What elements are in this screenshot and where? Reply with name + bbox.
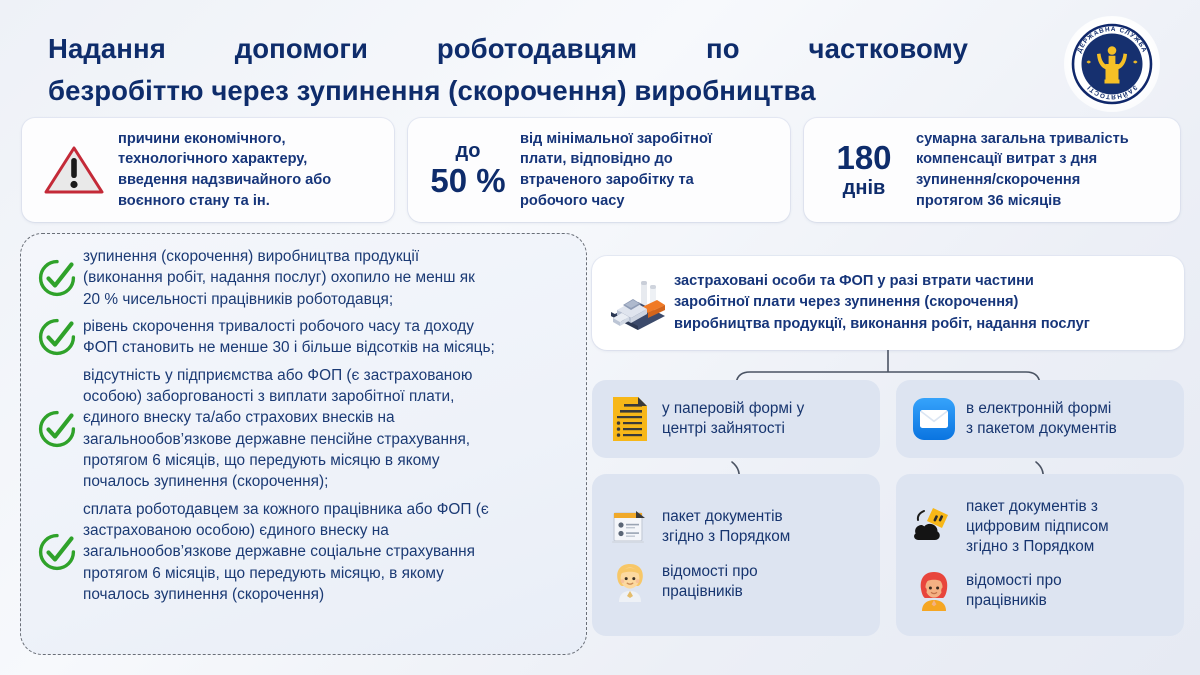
checklist-item-text: відсутність у підприємства або ФОП (є за…: [83, 365, 572, 493]
emblem-icon: ДЕРЖАВНА СЛУЖБА ЗАЙНЯТОСТІ: [1070, 22, 1154, 106]
submission-details-paper: пакет документів згідно з Порядком: [592, 474, 880, 636]
header: Надання допомоги роботодавцям по частков…: [0, 0, 1200, 118]
check-line: застрахованою особою) єдиного внеску на: [83, 520, 568, 541]
stat-prefix: до: [422, 141, 514, 162]
factory-plant-icon: [602, 274, 674, 332]
stat-line: компенсації витрат з дня: [916, 149, 1168, 170]
conditions-checklist-panel: зупинення (скорочення) виробництва проду…: [20, 233, 587, 655]
card-line: працівників: [662, 582, 870, 602]
checklist-item-text: зупинення (скорочення) виробництва проду…: [83, 246, 572, 310]
stat-line: протягом 36 місяців: [916, 191, 1168, 212]
title-line-1: Надання допомоги роботодавцям по частков…: [48, 28, 968, 70]
stat-card-days: 180 днів сумарна загальна тривалість ком…: [804, 118, 1180, 222]
stat-card-days-text: сумарна загальна тривалість компенсації …: [910, 129, 1168, 212]
insured-line: застраховані особи та ФОП у разі втрати …: [674, 271, 1170, 292]
title-word: по: [706, 28, 740, 70]
stat-line: від мінімальної заробітної: [520, 129, 778, 150]
stat-line: втраченого заробітку та: [520, 170, 778, 191]
title-word: допомоги: [235, 28, 368, 70]
stat-card-reasons: причини економічного, технологічного хар…: [22, 118, 394, 222]
detail-row-employees: відомості про працівників: [906, 569, 1174, 613]
card-line: цифровим підписом: [966, 517, 1174, 537]
stat-card-percent: до 50 % від мінімальної заробітної плати…: [408, 118, 790, 222]
checklist-item: рівень скорочення тривалості робочого ча…: [31, 316, 572, 359]
title-line-2: безробіттю через зупинення (скорочення) …: [48, 70, 968, 112]
green-check-circle-icon: [31, 318, 83, 356]
stat-value: 180: [818, 141, 910, 176]
check-line: відсутність у підприємства або ФОП (є за…: [83, 365, 568, 386]
check-line: ФОП становить не менше 30 і більше відсо…: [83, 337, 568, 358]
card-line: відомості про: [662, 562, 870, 582]
card-line: пакет документів: [662, 507, 870, 527]
stat-unit: днів: [818, 178, 910, 199]
stat-value: 50 %: [422, 164, 514, 199]
submission-card-electronic-text: в електронній формі з пакетом документів: [962, 399, 1174, 439]
checklist-item: відсутність у підприємства або ФОП (є за…: [31, 365, 572, 493]
detail-row-employees: відомості про працівників: [602, 560, 870, 604]
check-line: почалось зупинення (скорочення);: [83, 471, 568, 492]
green-check-circle-icon: [31, 533, 83, 571]
detail-row-documents: пакет документів згідно з Порядком: [602, 506, 870, 548]
stat-figure-percent: до 50 %: [422, 141, 514, 199]
document-list-icon: [602, 506, 658, 548]
submission-methods-grid: у паперовій формі у центрі зайнятості: [592, 380, 1184, 636]
warning-triangle-icon: [36, 144, 112, 196]
check-line: єдиного внеску та/або страхових внесків …: [83, 407, 568, 428]
check-line: (виконання робіт, надання послуг) охопил…: [83, 267, 568, 288]
card-line: працівників: [966, 591, 1174, 611]
green-check-circle-icon: [31, 259, 83, 297]
mail-envelope-icon: [906, 396, 962, 442]
detail-employees-text: відомості про працівників: [658, 562, 870, 602]
check-line: загальнообов’язкове державне соціальне с…: [83, 541, 568, 562]
card-line: центрі зайнятості: [662, 419, 870, 439]
stat-line: причини економічного,: [118, 129, 382, 150]
submission-card-paper[interactable]: у паперовій формі у центрі зайнятості: [592, 380, 880, 458]
stat-line: воєнного стану та ін.: [118, 191, 382, 212]
stat-line: сумарна загальна тривалість: [916, 129, 1168, 150]
redhead-person-icon: [906, 569, 962, 613]
check-line: сплата роботодавцем за кожного працівник…: [83, 499, 568, 520]
stat-figure-days: 180 днів: [818, 141, 910, 200]
check-line: особою) заборгованості з виплати заробіт…: [83, 386, 568, 407]
detail-signed-documents-text: пакет документів з цифровим підписом згі…: [962, 497, 1174, 558]
detail-employees-text: відомості про працівників: [962, 571, 1174, 611]
title-word: частковому: [809, 28, 968, 70]
stat-line: робочого часу: [520, 191, 778, 212]
blond-person-icon: [602, 560, 658, 604]
check-line: зупинення (скорочення) виробництва проду…: [83, 246, 568, 267]
card-line: з пакетом документів: [966, 419, 1174, 439]
title-word: Надання: [48, 28, 166, 70]
page-title: Надання допомоги роботодавцям по частков…: [48, 28, 968, 112]
check-line: протягом 6 місяців, що передують місяцю …: [83, 450, 568, 471]
checklist-item-text: сплата роботодавцем за кожного працівник…: [83, 499, 572, 606]
check-line: загальнообов’язкове державне пенсійне ст…: [83, 429, 568, 450]
check-line: 20 % чисельності працівників роботодавця…: [83, 289, 568, 310]
check-line: протягом 6 місяців, що передують місяцю,…: [83, 563, 568, 584]
state-employment-service-emblem: ДЕРЖАВНА СЛУЖБА ЗАЙНЯТОСТІ: [1064, 16, 1160, 112]
insured-persons-card: застраховані особи та ФОП у разі втрати …: [592, 256, 1184, 350]
insured-line: виробництва продукції, виконання робіт, …: [674, 314, 1170, 335]
detail-documents-text: пакет документів згідно з Порядком: [658, 507, 870, 547]
submission-card-electronic[interactable]: в електронній формі з пакетом документів: [896, 380, 1184, 458]
stat-line: зупинення/скорочення: [916, 170, 1168, 191]
checklist-item: сплата роботодавцем за кожного працівник…: [31, 499, 572, 606]
submission-card-paper-text: у паперовій формі у центрі зайнятості: [658, 399, 870, 439]
stat-line: введення надзвичайного або: [118, 170, 382, 191]
card-line: в електронній формі: [966, 399, 1174, 419]
digital-signature-key-icon: [906, 505, 962, 549]
insured-persons-section: застраховані особи та ФОП у разі втрати …: [592, 256, 1184, 350]
green-check-circle-icon: [31, 410, 83, 448]
card-line: у паперовій формі у: [662, 399, 870, 419]
insured-line: заробітної плати через зупинення (скороч…: [674, 292, 1170, 313]
insured-persons-text: застраховані особи та ФОП у разі втрати …: [674, 271, 1170, 335]
stat-line: плати, відповідно до: [520, 149, 778, 170]
detail-row-signed-documents: пакет документів з цифровим підписом згі…: [906, 497, 1174, 558]
check-line: почалось зупинення (скорочення): [83, 584, 568, 605]
card-line: згідно з Порядком: [966, 537, 1174, 557]
top-stat-cards: причини економічного, технологічного хар…: [22, 118, 1180, 222]
stat-line: технологічного характеру,: [118, 149, 382, 170]
card-line: пакет документів з: [966, 497, 1174, 517]
infographic-page: Надання допомоги роботодавцям по частков…: [0, 0, 1200, 675]
checklist-item-text: рівень скорочення тривалості робочого ча…: [83, 316, 572, 359]
card-line: відомості про: [966, 571, 1174, 591]
title-word: роботодавцям: [437, 28, 637, 70]
submission-details-electronic: пакет документів з цифровим підписом згі…: [896, 474, 1184, 636]
stat-card-reasons-text: причини економічного, технологічного хар…: [112, 129, 382, 212]
stat-card-percent-text: від мінімальної заробітної плати, відпов…: [514, 129, 778, 212]
paper-document-icon: [602, 395, 658, 443]
checklist-item: зупинення (скорочення) виробництва проду…: [31, 246, 572, 310]
check-line: рівень скорочення тривалості робочого ча…: [83, 316, 568, 337]
card-line: згідно з Порядком: [662, 527, 870, 547]
